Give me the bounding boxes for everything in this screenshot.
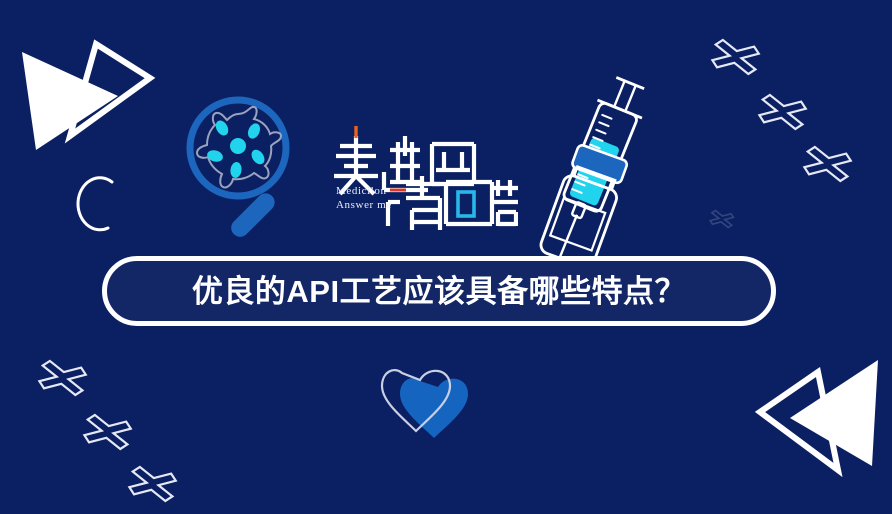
logo-english-line2: Answer me [336, 198, 422, 212]
question-title-pill: 优良的API工艺应该具备哪些特点？ [102, 256, 776, 326]
page-title: 优良的API工艺应该具备哪些特点？ [192, 276, 686, 307]
cross-mark-icon [710, 210, 734, 228]
cross-mark-icon [711, 39, 852, 183]
logo-chinese-mark [328, 122, 518, 234]
vaccine-vial-icon [538, 143, 630, 269]
banner-root: Medicilon Answer me 优良的API工艺应该具备哪些特点？ [0, 0, 892, 514]
cross-mark-icon [38, 360, 177, 503]
heart-icon [382, 370, 468, 438]
logo-english-line1: Medicilon [336, 184, 422, 198]
virus-magnifier-icon [190, 100, 286, 241]
brand-logo: Medicilon Answer me [328, 122, 518, 234]
arc-icon [78, 178, 112, 230]
logo-accent-square [458, 192, 474, 216]
logo-english-text: Medicilon Answer me [336, 184, 422, 212]
